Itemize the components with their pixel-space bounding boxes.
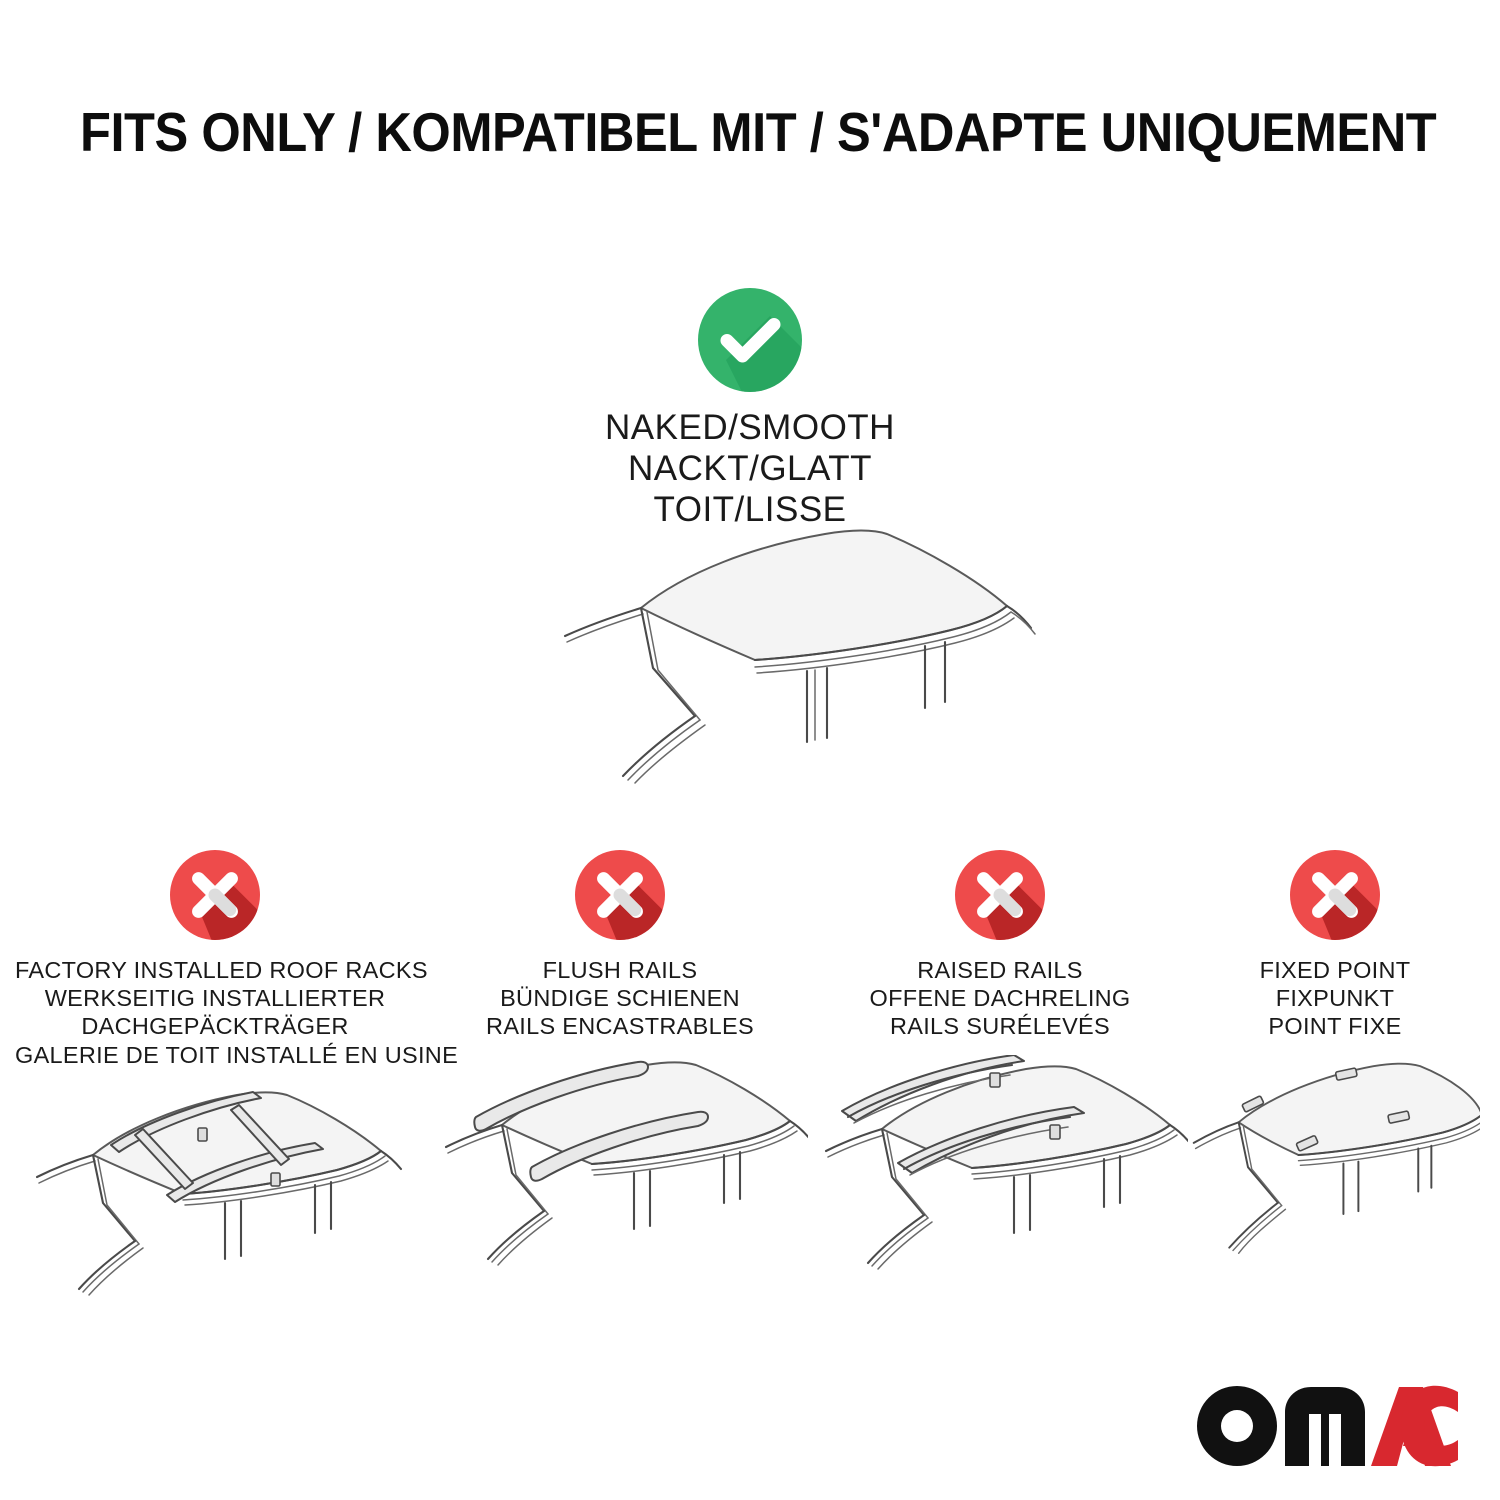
compatible-label: NAKED/SMOOTH NACKT/GLATT TOIT/LISSE xyxy=(430,408,1070,531)
incompatible-label-0: FACTORY INSTALLED ROOF RACKS WERKSEITIG … xyxy=(15,956,415,1069)
incompatible-label-1: FLUSH RAILS BÜNDIGE SCHIENEN RAILS ENCAS… xyxy=(432,956,808,1041)
cross-icon-container-0 xyxy=(15,845,415,945)
cross-icon-container-2 xyxy=(812,845,1188,945)
cross-circle-icon xyxy=(955,850,1045,940)
incompatible-item-raised-rails: RAISED RAILS OFFENE DACHRELING RAILS SUR… xyxy=(812,845,1188,1290)
incompatible-label-2: RAISED RAILS OFFENE DACHRELING RAILS SUR… xyxy=(812,956,1188,1041)
compatible-label-line-2: NACKT/GLATT xyxy=(430,449,1070,490)
incompatible-3-line-2: FIXPUNKT xyxy=(1190,984,1480,1012)
incompatible-0-line-2: WERKSEITIG INSTALLIERTER xyxy=(15,984,415,1012)
car-roof-raised-rails-illustration xyxy=(812,1055,1188,1285)
check-circle-icon xyxy=(698,288,802,392)
incompatible-0-line-3: DACHGEPÄCKTRÄGER xyxy=(15,1012,415,1040)
compatible-label-line-1: NAKED/SMOOTH xyxy=(430,408,1070,449)
compatible-section: NAKED/SMOOTH NACKT/GLATT TOIT/LISSE xyxy=(430,288,1070,531)
incompatible-2-line-2: OFFENE DACHRELING xyxy=(812,984,1188,1012)
incompatible-2-line-1: RAISED RAILS xyxy=(812,956,1188,984)
cross-icon-container-3 xyxy=(1190,845,1480,945)
cross-circle-icon xyxy=(1290,850,1380,940)
incompatible-0-line-4: GALERIE DE TOIT INSTALLÉ EN USINE xyxy=(15,1041,415,1069)
incompatible-3-line-3: POINT FIXE xyxy=(1190,1012,1480,1040)
car-roof-flush-rails-illustration xyxy=(432,1055,808,1285)
car-roof-factory-roof-rack-illustration xyxy=(15,1083,415,1313)
car-roof-naked-smooth-illustration xyxy=(455,520,1055,810)
incompatible-1-line-1: FLUSH RAILS xyxy=(432,956,808,984)
incompatible-1-line-3: RAILS ENCASTRABLES xyxy=(432,1012,808,1040)
incompatible-1-line-2: BÜNDIGE SCHIENEN xyxy=(432,984,808,1012)
incompatible-0-line-1: FACTORY INSTALLED ROOF RACKS xyxy=(15,956,415,984)
car-roof-fixed-point-illustration xyxy=(1190,1055,1480,1285)
cross-circle-icon xyxy=(575,850,665,940)
page-title: FITS ONLY / KOMPATIBEL MIT / S'ADAPTE UN… xyxy=(80,104,1331,162)
omac-logo-mark xyxy=(1193,1382,1458,1468)
incompatible-label-3: FIXED POINT FIXPUNKT POINT FIXE xyxy=(1190,956,1480,1041)
incompatible-item-factory-roof-racks: FACTORY INSTALLED ROOF RACKS WERKSEITIG … xyxy=(15,845,415,1318)
incompatible-item-fixed-point: FIXED POINT FIXPUNKT POINT FIXE xyxy=(1190,845,1480,1290)
omac-logo xyxy=(1193,1382,1458,1468)
incompatible-3-line-1: FIXED POINT xyxy=(1190,956,1480,984)
check-icon-container xyxy=(430,288,1070,392)
incompatible-item-flush-rails: FLUSH RAILS BÜNDIGE SCHIENEN RAILS ENCAS… xyxy=(432,845,808,1290)
incompatible-2-line-3: RAILS SURÉLEVÉS xyxy=(812,1012,1188,1040)
cross-circle-icon xyxy=(170,850,260,940)
cross-icon-container-1 xyxy=(432,845,808,945)
